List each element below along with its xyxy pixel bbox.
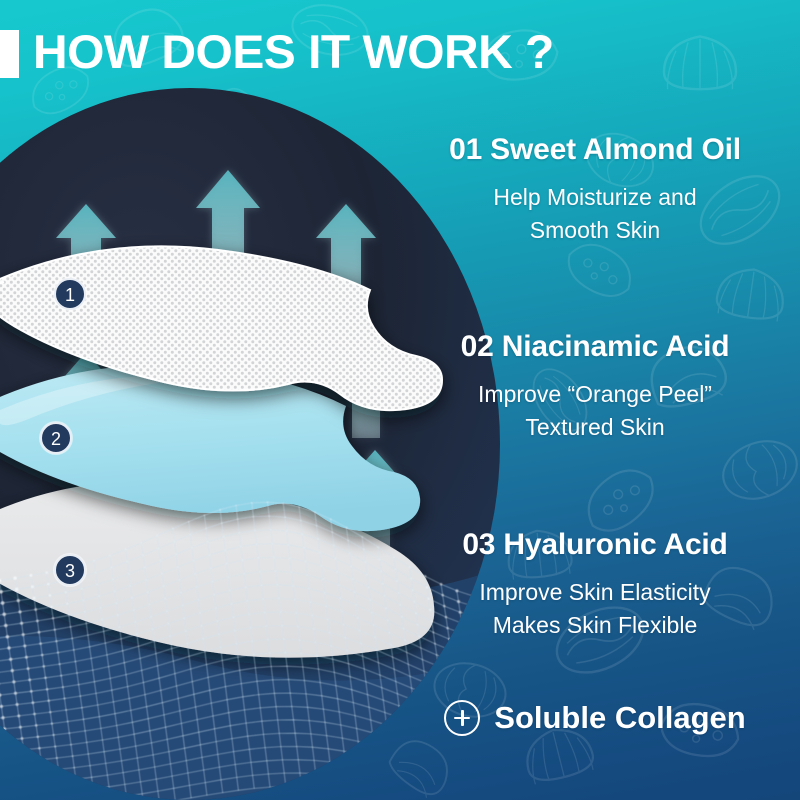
plus-circle-icon	[444, 700, 480, 736]
badge-2-number: 2	[51, 429, 61, 449]
header-accent-bar	[0, 30, 19, 78]
badge-1-number: 1	[65, 285, 75, 305]
ingredient-1-desc-line-1: Help Moisturize and	[390, 181, 800, 214]
ingredient-item-2: 02 Niacinamic Acid Improve “Orange Peel”…	[390, 330, 800, 444]
ingredient-2-desc-line-2: Textured Skin	[390, 411, 800, 444]
ingredient-2-description: Improve “Orange Peel” Textured Skin	[390, 378, 800, 444]
ingredient-1-description: Help Moisturize and Smooth Skin	[390, 181, 800, 247]
ingredient-3-desc-line-2: Makes Skin Flexible	[390, 609, 800, 642]
badge-3-number: 3	[65, 561, 75, 581]
header: HOW DOES IT WORK ?	[0, 0, 800, 92]
ingredient-3-desc-line-1: Improve Skin Elasticity	[390, 576, 800, 609]
ingredient-3-title: 03 Hyaluronic Acid	[390, 528, 800, 562]
extra-ingredient-label: Soluble Collagen	[494, 700, 745, 736]
ingredient-2-title: 02 Niacinamic Acid	[390, 330, 800, 364]
badge-1: 1	[53, 277, 87, 311]
ingredient-1-desc-line-2: Smooth Skin	[390, 214, 800, 247]
ingredient-item-1: 01 Sweet Almond Oil Help Moisturize and …	[390, 133, 800, 247]
badge-2: 2	[39, 421, 73, 455]
ingredient-list: 01 Sweet Almond Oil Help Moisturize and …	[390, 88, 800, 800]
badge-3: 3	[53, 553, 87, 587]
ingredient-3-description: Improve Skin Elasticity Makes Skin Flexi…	[390, 576, 800, 642]
ingredient-2-desc-line-1: Improve “Orange Peel”	[390, 378, 800, 411]
poster-canvas: 1 2 3 HOW DOES IT WORK ? 01 Sweet Almo	[0, 0, 800, 800]
extra-ingredient-row: Soluble Collagen	[390, 700, 800, 736]
ingredient-1-title: 01 Sweet Almond Oil	[390, 133, 800, 167]
page-title: HOW DOES IT WORK ?	[33, 24, 554, 80]
ingredient-item-3: 03 Hyaluronic Acid Improve Skin Elastici…	[390, 528, 800, 642]
